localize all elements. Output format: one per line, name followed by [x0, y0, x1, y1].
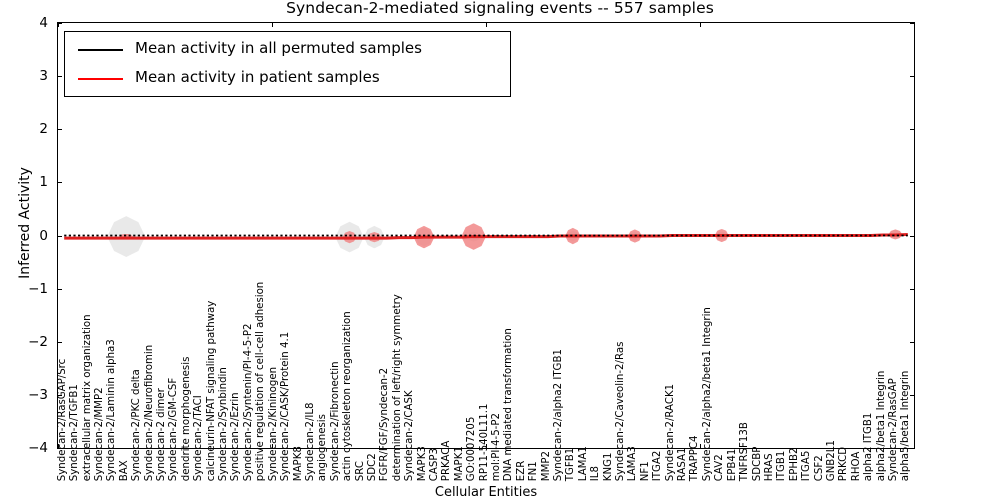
- plot-area: [58, 23, 914, 448]
- series-line: [64, 234, 908, 238]
- y-tick-label: −3: [0, 387, 48, 403]
- x-tick-label: EZR: [517, 461, 527, 482]
- x-tick-label: MMP2: [541, 451, 551, 481]
- x-tick-label: SRC: [355, 461, 365, 481]
- x-tick-label: MAPK3: [417, 446, 427, 481]
- chart-title: Syndecan-2-mediated signaling events -- …: [0, 0, 1000, 17]
- x-tick-label: CAV2: [715, 454, 725, 481]
- x-tick-label: CASP3: [430, 448, 440, 481]
- x-tick-label: IL8: [591, 466, 601, 481]
- x-tick-label: EPB41: [728, 448, 738, 481]
- x-tick-label: NF1: [641, 461, 651, 481]
- x-tick-label: ITGB1: [777, 450, 787, 481]
- x-tick-label: LAMA3: [628, 446, 638, 481]
- x-tick-label: FN1: [529, 461, 539, 481]
- figure: Syndecan-2-mediated signaling events -- …: [0, 0, 1000, 500]
- x-tick-label: LAMA1: [579, 446, 589, 481]
- x-tick-label: CSF2: [814, 455, 824, 481]
- x-axis-title: Cellular Entities: [57, 485, 915, 500]
- x-tick-label: BAX: [120, 460, 130, 481]
- y-axis-title: Inferred Activity: [17, 93, 33, 353]
- x-tick-label: ITGA5: [802, 450, 812, 481]
- x-tick-label: MAPK1: [455, 446, 465, 481]
- x-tick-label: KNG1: [603, 452, 613, 481]
- x-tick-mark: [914, 22, 915, 27]
- x-tick-label: RASA1: [678, 447, 688, 481]
- x-tick-label: RHOA: [852, 451, 862, 481]
- y-tick-label: 4: [0, 15, 48, 31]
- x-tick-label: SDC2: [368, 453, 378, 481]
- x-tick-label: SDCBP: [752, 446, 762, 481]
- x-tick-label: MAPK8: [293, 446, 303, 481]
- x-tick-label: HRAS: [765, 453, 775, 481]
- x-tick-label: TGFB1: [566, 448, 576, 481]
- x-tick-label: PRKCD: [839, 447, 849, 481]
- x-tick-label: ITGA2: [653, 450, 663, 481]
- x-tick-mark: [914, 444, 915, 449]
- series-lines: [58, 23, 914, 448]
- y-tick-label: 3: [0, 68, 48, 84]
- x-tick-label: EPHB2: [790, 447, 800, 481]
